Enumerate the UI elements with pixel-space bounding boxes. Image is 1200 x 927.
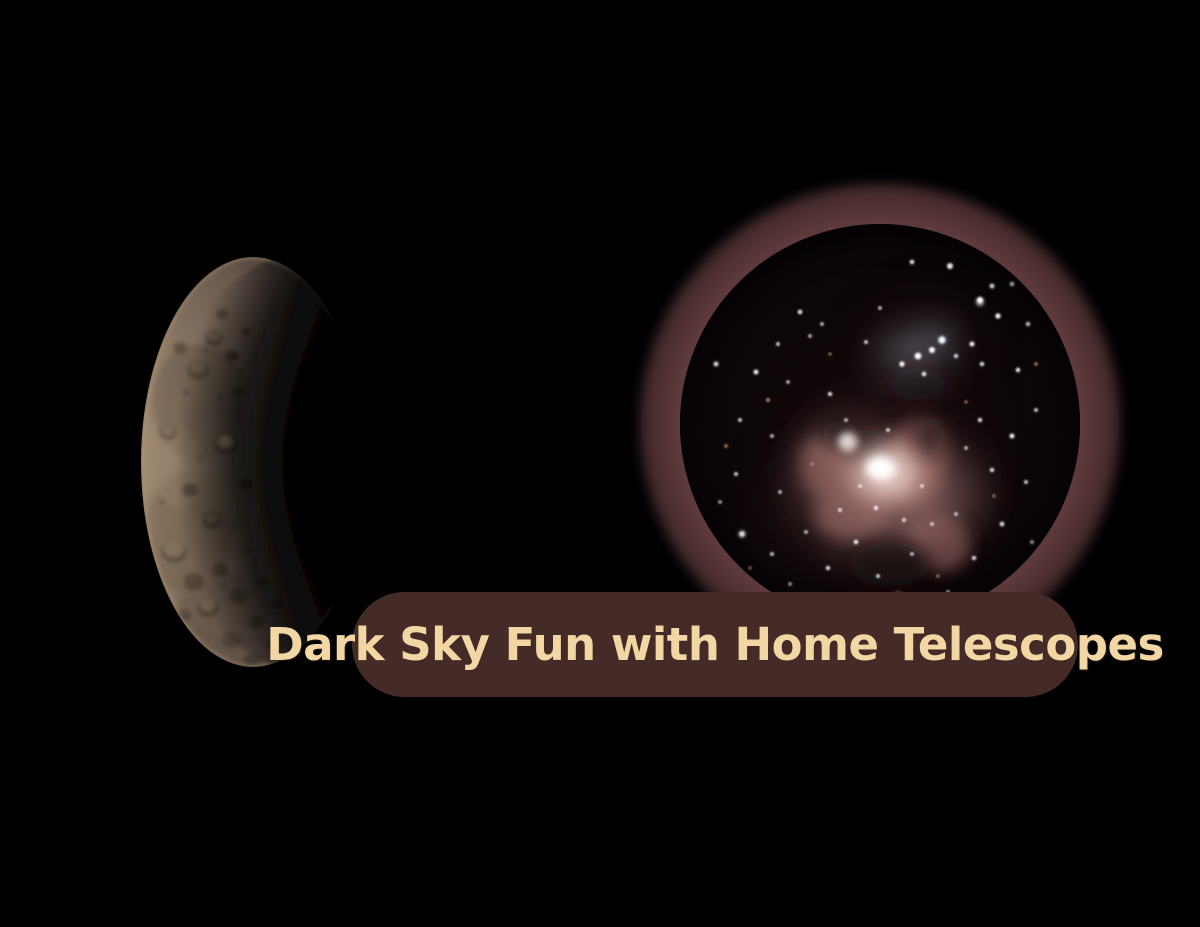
- title-banner: Dark Sky Fun with Home Telescopes: [352, 592, 1078, 697]
- orion-nebula-eyepiece-view: [680, 224, 1080, 624]
- moon-illustration: [128, 252, 378, 672]
- waning-crescent-moon: [128, 252, 378, 672]
- orion-nebula-illustration: [680, 224, 1080, 624]
- poster-canvas: Dark Sky Fun with Home Telescopes: [0, 0, 1200, 927]
- page-title: Dark Sky Fun with Home Telescopes: [266, 622, 1164, 667]
